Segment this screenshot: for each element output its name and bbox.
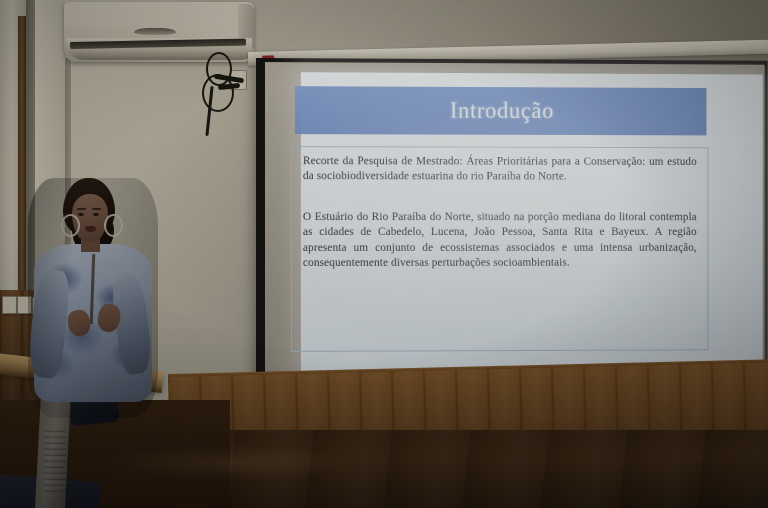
wall-outlet-left-1[interactable] [2,296,17,314]
door-frame-trim [18,16,26,302]
projection-screen-fabric: Introdução Recorte da Pesquisa de Mestra… [265,62,765,402]
slide-paragraph-1: Recorte da Pesquisa de Mestrado: Áreas P… [303,154,697,185]
presenter-earring-left [61,214,80,237]
presenter-earring-right [104,214,123,237]
presenter-mouth [85,226,96,232]
air-conditioner-display [134,28,176,35]
presenter-brow-left [77,208,86,210]
slide-paragraph-2: O Estuário do Rio Paraíba do Norte, situ… [303,210,697,272]
slide-title-banner: Introdução [295,86,706,135]
desk-leg-texture [44,430,66,492]
presenter-eye-right [93,213,99,216]
presenter-brow-right [92,208,101,210]
presenter-eye-left [78,213,84,216]
slide-title: Introdução [295,86,706,135]
presenter [28,178,158,418]
projection-screen: Introdução Recorte da Pesquisa de Mestra… [256,58,768,410]
photo-scene: Introdução Recorte da Pesquisa de Mestra… [0,0,768,508]
floor-reflection [80,438,380,488]
